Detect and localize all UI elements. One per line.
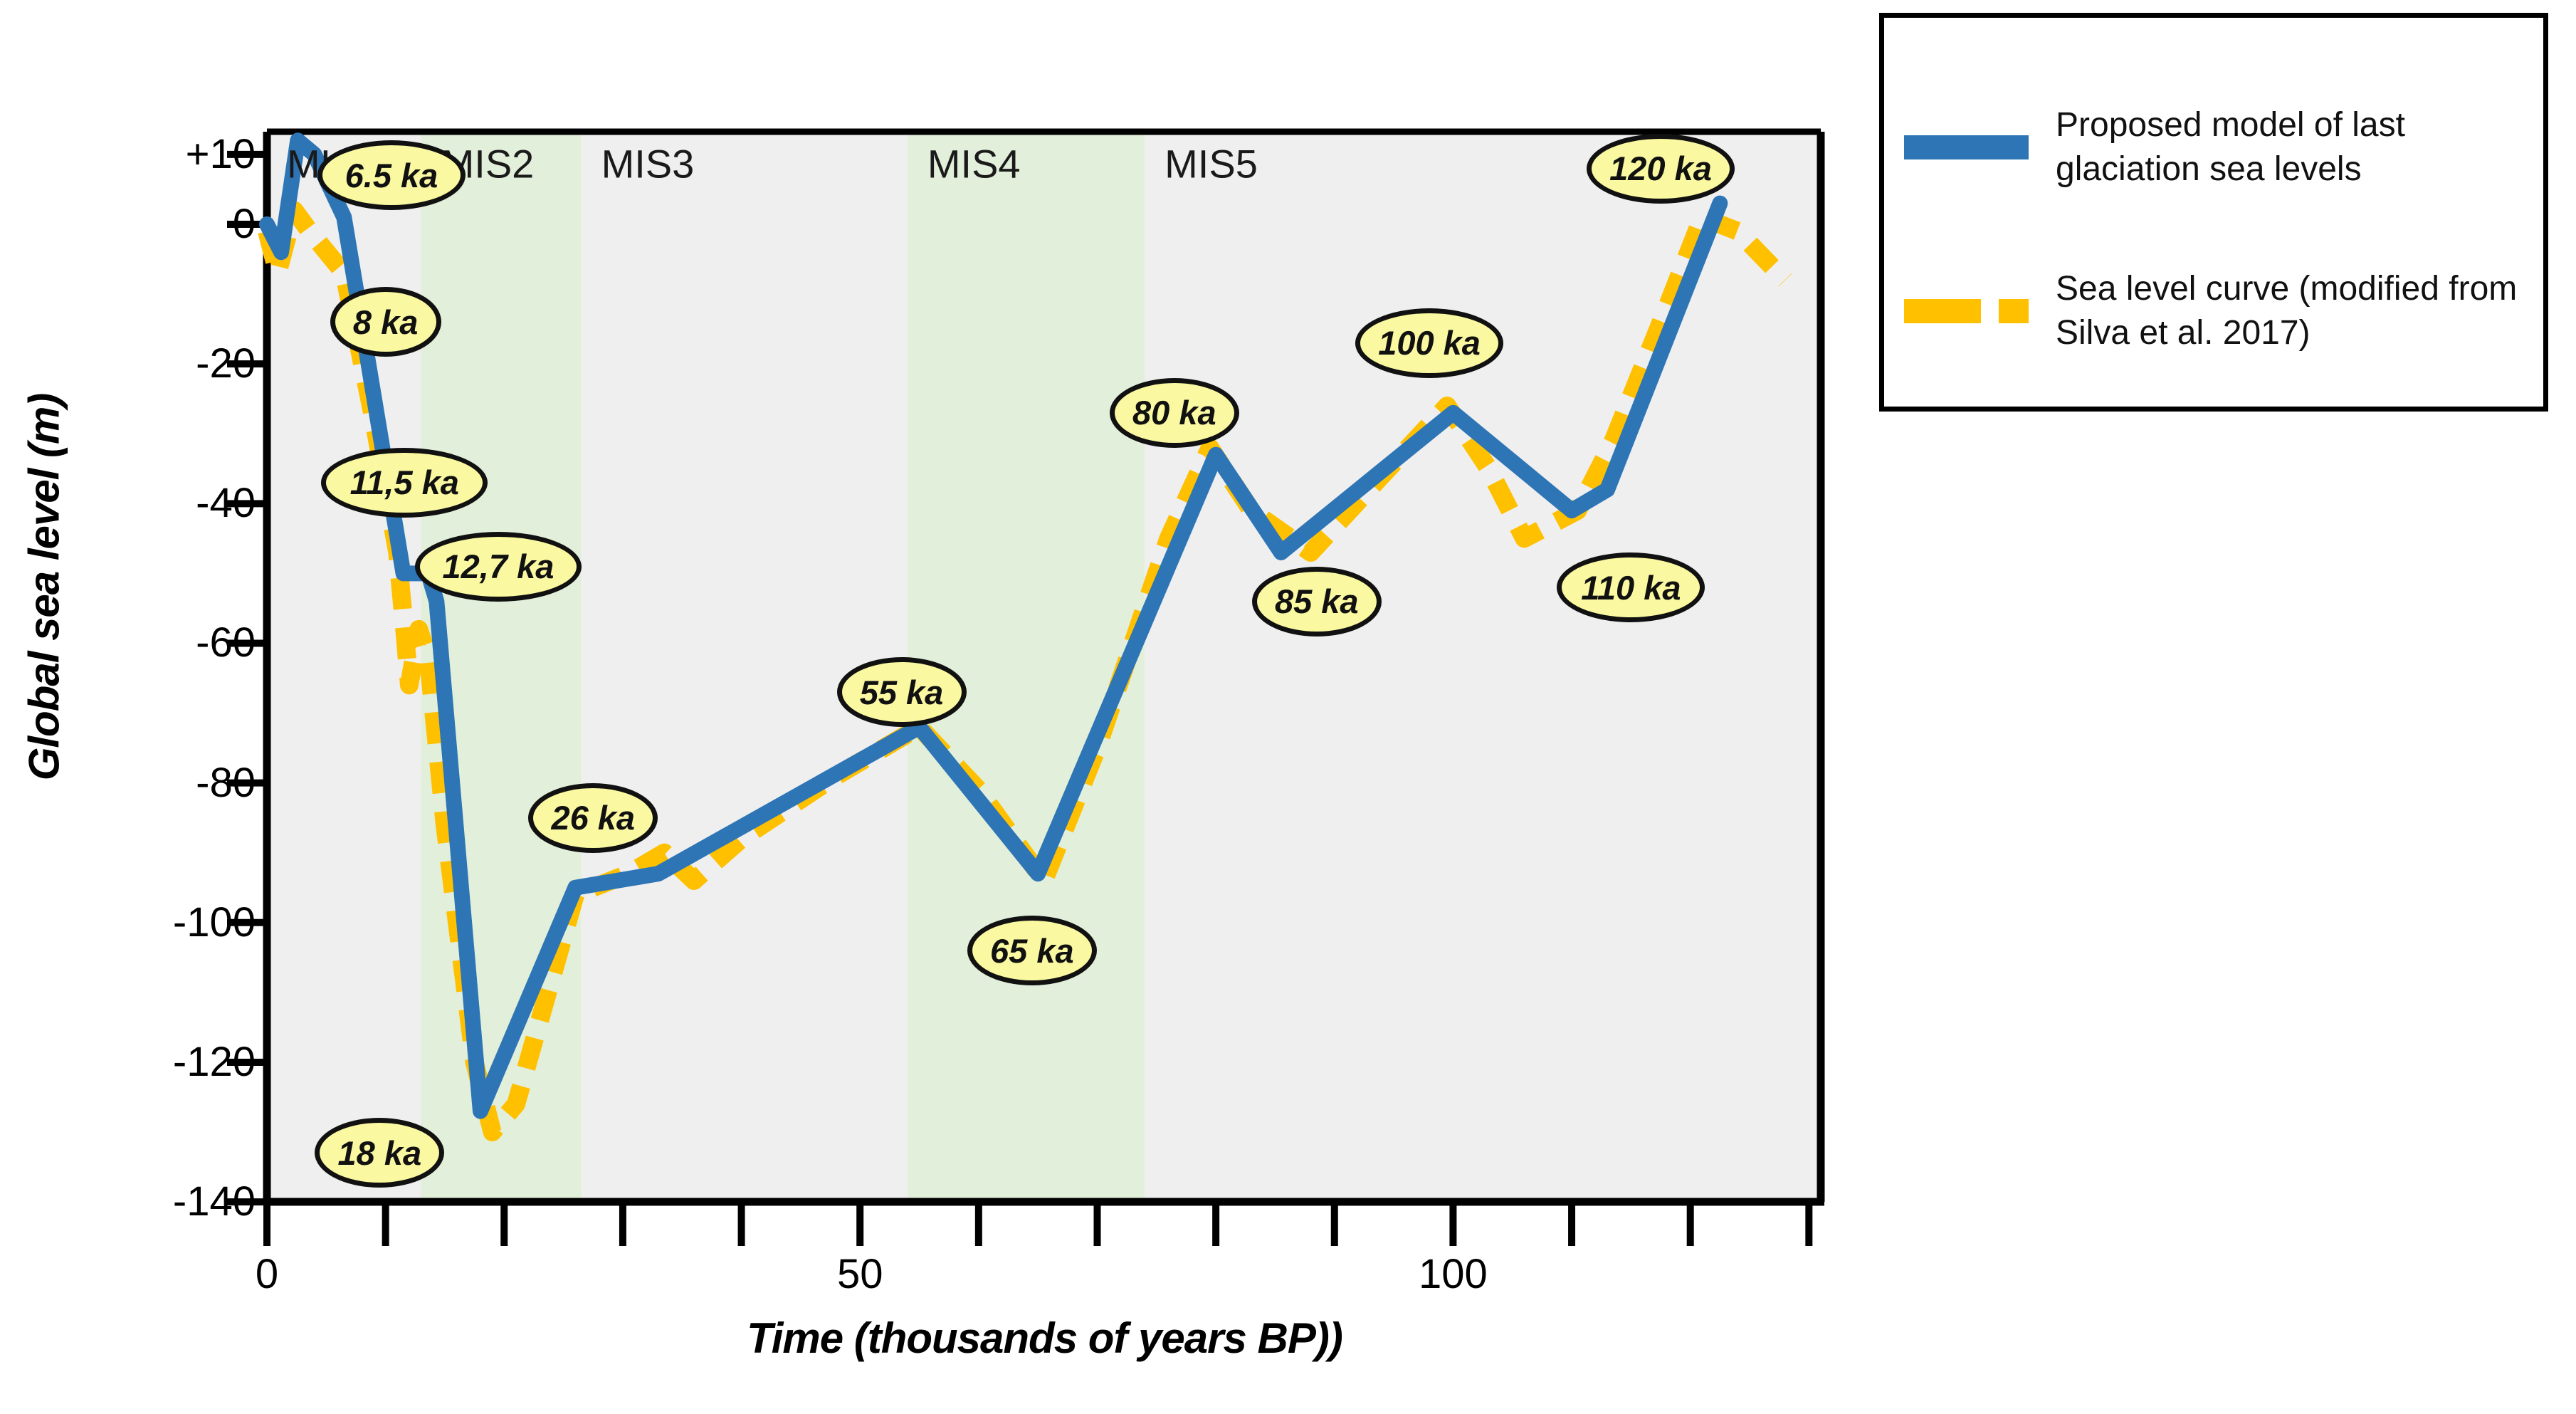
annotation-bubble: 65 ka <box>967 916 1097 985</box>
annotation-bubble: 110 ka <box>1557 552 1705 622</box>
y-tick-label: -40 <box>42 483 256 524</box>
annotation-bubble: 55 ka <box>837 657 967 727</box>
annotation-bubble: 12,7 ka <box>415 532 582 602</box>
annotation-bubble: 8 ka <box>330 287 441 357</box>
y-tick-label: -60 <box>42 622 256 664</box>
y-tick-label: -140 <box>42 1181 256 1222</box>
annotation-bubble: 85 ka <box>1252 567 1382 637</box>
annotation-bubble: 80 ka <box>1110 378 1239 448</box>
legend-swatch-dashed-line <box>1904 299 2029 323</box>
legend-item-sea-level-curve: Sea level curve (modified from Silva et … <box>1904 267 2525 355</box>
mis-band-label-mis3: MIS3 <box>601 141 695 187</box>
annotation-bubble: 11,5 ka <box>321 448 488 518</box>
annotation-bubble: 120 ka <box>1587 134 1735 204</box>
annotation-bubble: 6.5 ka <box>317 140 466 210</box>
y-tick-label: -100 <box>42 902 256 943</box>
annotation-bubble: 100 ka <box>1355 308 1503 378</box>
y-tick-label: -120 <box>42 1042 256 1083</box>
annotation-bubble: 26 ka <box>528 783 658 853</box>
legend-label-sea-level-curve: Sea level curve (modified from Silva et … <box>2056 267 2525 355</box>
mis-band-label-mis5: MIS5 <box>1165 141 1258 187</box>
mis-band-mis5 <box>1145 132 1821 1202</box>
annotation-bubble: 18 ka <box>315 1118 444 1188</box>
mis-band-label-mis4: MIS4 <box>927 141 1021 187</box>
y-tick-label: +10 <box>42 134 256 175</box>
x-tick-label: 50 <box>789 1250 931 1298</box>
x-tick-label: 0 <box>196 1250 338 1298</box>
legend-swatch-solid-line <box>1904 135 2029 159</box>
legend-label-proposed-model: Proposed model of last glaciation sea le… <box>2056 103 2525 192</box>
y-tick-label: -20 <box>42 343 256 384</box>
y-tick-label: -80 <box>42 763 256 804</box>
y-tick-label: 0 <box>42 204 256 245</box>
legend-item-proposed-model: Proposed model of last glaciation sea le… <box>1904 103 2525 192</box>
chart-legend: Proposed model of last glaciation sea le… <box>1879 13 2548 412</box>
x-tick-label: 100 <box>1382 1250 1524 1298</box>
sea-level-chart-figure: Global sea level (m) Time (thousands of … <box>0 0 2576 1414</box>
